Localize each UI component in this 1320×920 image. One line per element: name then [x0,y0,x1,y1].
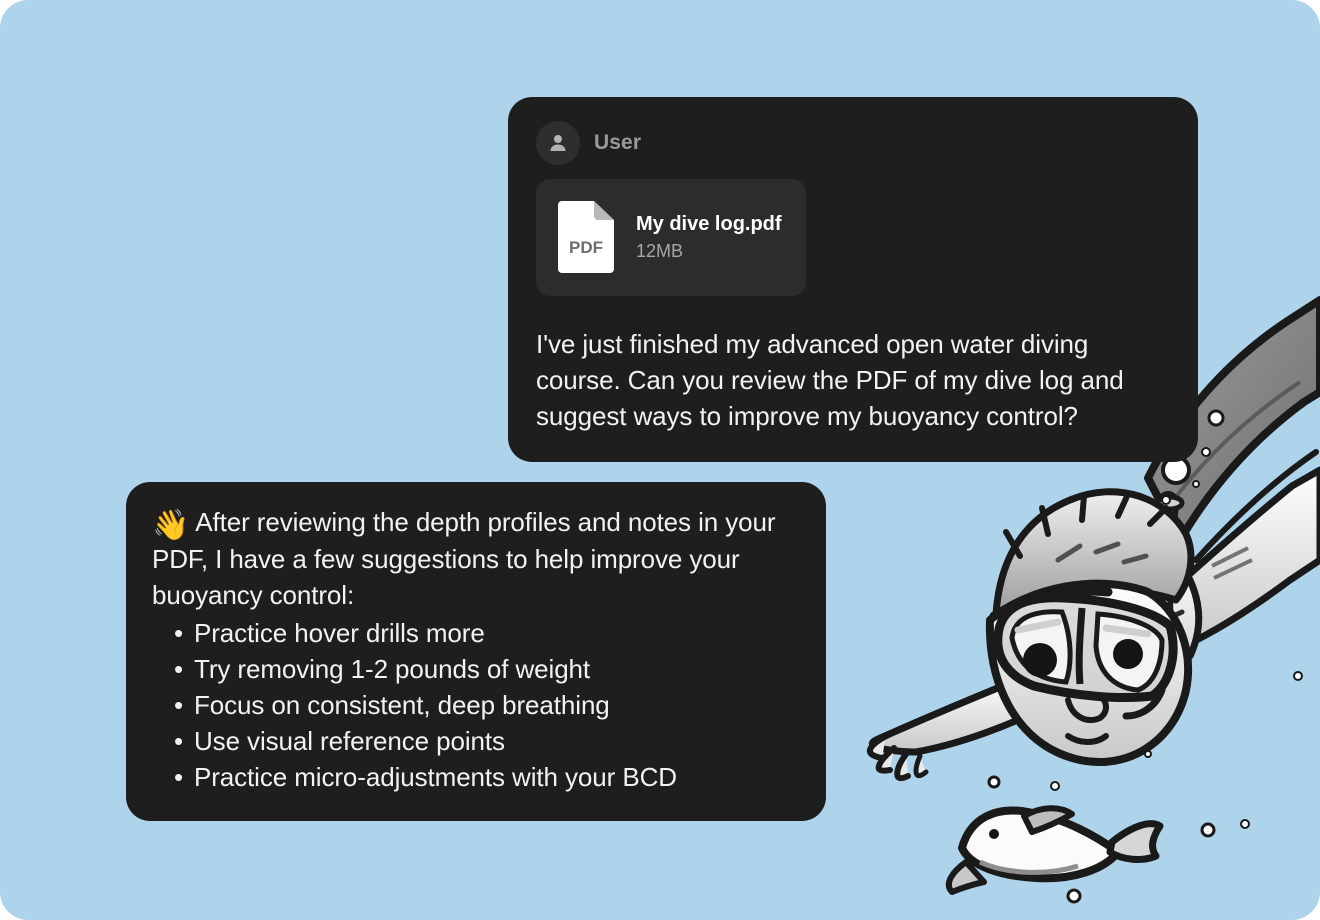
message-author-name: User [594,131,641,155]
message-author-row: User [536,121,1170,165]
attachment-meta: My dive log.pdf 12MB [636,213,782,262]
list-item: Try removing 1-2 pounds of weight [152,651,800,687]
conversation-canvas: User PDF My dive log.pdf 12MB I've just … [0,0,1320,920]
list-item: Practice micro-adjustments with your BCD [152,759,800,795]
list-item: Focus on consistent, deep breathing [152,687,800,723]
air-bubbles [989,391,1302,902]
pdf-file-icon: PDF [556,197,618,278]
assistant-intro-body: After reviewing the depth profiles and n… [152,507,775,610]
attachment-filesize: 12MB [636,241,782,262]
attachment-card[interactable]: PDF My dive log.pdf 12MB [536,179,806,296]
user-message-bubble: User PDF My dive log.pdf 12MB I've just … [508,97,1198,462]
suggestion-list: Practice hover drills more Try removing … [152,615,800,795]
list-item: Use visual reference points [152,723,800,759]
fish-illustration [949,808,1160,892]
avatar [536,121,580,165]
attachment-filename: My dive log.pdf [636,213,782,236]
svg-text:PDF: PDF [569,238,603,257]
user-message-text: I've just finished my advanced open wate… [536,326,1170,434]
person-icon [546,131,570,155]
assistant-message-bubble: 👋After reviewing the depth profiles and … [126,482,826,821]
list-item: Practice hover drills more [152,615,800,651]
assistant-intro-text: 👋After reviewing the depth profiles and … [152,504,800,613]
waving-hand-emoji: 👋 [152,509,189,542]
